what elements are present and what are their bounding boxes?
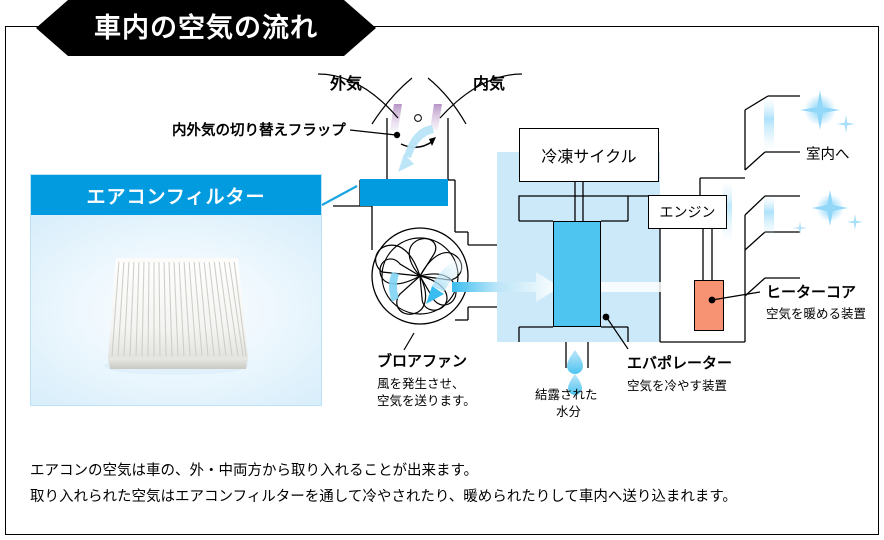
evaporator-description: 空気を冷やす装置: [627, 375, 727, 394]
inside-air-label: 内気: [473, 70, 505, 94]
blower-fan-label: ブロアファン: [377, 350, 467, 371]
heater-core-label: ヒーターコア: [766, 281, 856, 302]
caption-block: エアコンの空気は車の、外・中両方から取り入れることが出来ます。 取り入れられた空…: [30, 458, 737, 510]
caption-line-1: エアコンの空気は車の、外・中両方から取り入れることが出来ます。: [30, 458, 737, 484]
heater-core-description: 空気を暖める装置: [766, 303, 866, 322]
title-banner: 車内の空気の流れ: [36, 0, 376, 56]
outside-air-label: 外気: [330, 70, 362, 94]
air-switch-flap-label: 内外気の切り替えフラップ: [172, 119, 346, 140]
blower-fan-description-line2: 空気を送ります。: [377, 390, 476, 409]
condensate-label-line2: 水分: [556, 401, 581, 420]
caption-line-2: 取り入れられた空気はエアコンフィルターを通して冷やされたり、暖められたりして車内…: [30, 484, 737, 510]
evaporator-label: エバポレーター: [627, 352, 732, 373]
infographic-page: 冷凍サイクル エンジン: [0, 0, 884, 540]
page-title: 車内の空気の流れ: [94, 15, 318, 42]
to-cabin-label: 室内へ: [806, 143, 850, 164]
